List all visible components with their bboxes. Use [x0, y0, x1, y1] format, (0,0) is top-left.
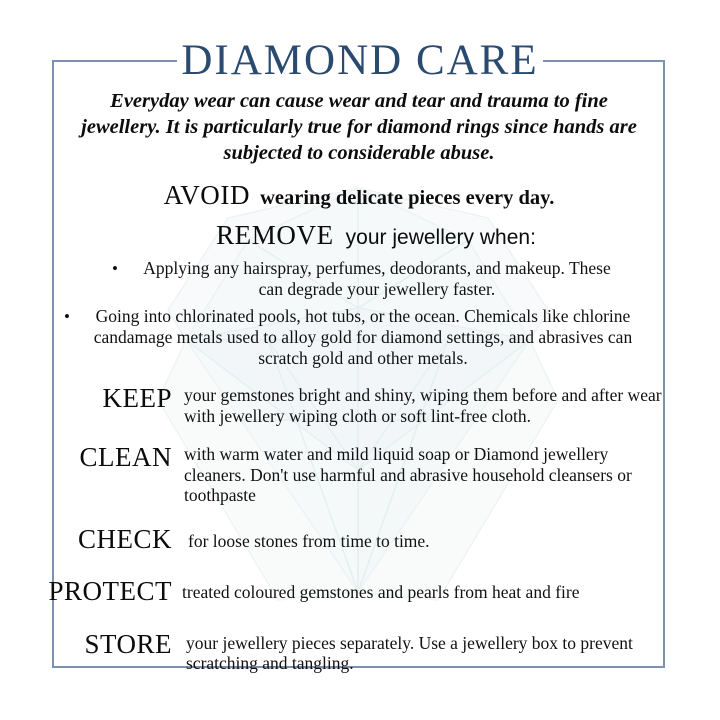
section-protect: PROTECT treated coloured gemstones and p…	[54, 578, 664, 604]
keyword-protect: PROTECT	[32, 578, 172, 604]
list-item: • Going into chlorinated pools, hot tubs…	[54, 300, 664, 369]
headline-avoid: AVOID wearing delicate pieces every day.	[54, 180, 664, 211]
page-title: DIAMOND CARE	[0, 38, 720, 84]
bullet-marker-icon: •	[64, 306, 70, 327]
list-item: • Applying any hairspray, perfumes, deod…	[54, 258, 664, 300]
keyword-keep: KEEP	[54, 385, 172, 411]
section-keep: KEEP your gemstones bright and shiny, wi…	[54, 385, 664, 426]
section-clean-text: with warm water and mild liquid soap or …	[184, 444, 664, 506]
section-clean: CLEAN with warm water and mild liquid so…	[54, 444, 664, 506]
headline-remove: REMOVE your jewellery when:	[54, 220, 664, 251]
diamond-care-poster: DIAMOND CARE Everyday wear can cause wea…	[0, 0, 720, 720]
intro-paragraph: Everyday wear can cause wear and tear an…	[54, 88, 664, 166]
keyword-avoid: AVOID	[164, 180, 251, 211]
list-item-text: Applying any hairspray, perfumes, deodor…	[134, 258, 620, 300]
headline-avoid-text: wearing delicate pieces every day.	[260, 187, 554, 210]
bullet-marker-icon: •	[112, 258, 118, 279]
section-check: CHECK for loose stones from time to time…	[54, 526, 664, 552]
keyword-store: STORE	[54, 631, 172, 657]
keyword-clean: CLEAN	[54, 444, 172, 470]
keyword-check: CHECK	[54, 526, 172, 552]
section-check-text: for loose stones from time to time.	[188, 531, 664, 552]
section-protect-text: treated coloured gemstones and pearls fr…	[182, 582, 664, 603]
section-store-text: your jewellery pieces separately. Use a …	[186, 633, 664, 674]
headline-remove-text: your jewellery when:	[346, 226, 536, 250]
content-body: Everyday wear can cause wear and tear an…	[54, 88, 664, 674]
section-store: STORE your jewellery pieces separately. …	[54, 631, 664, 674]
list-item-text: Going into chlorinated pools, hot tubs, …	[78, 306, 648, 369]
section-keep-text: your gemstones bright and shiny, wiping …	[184, 385, 664, 426]
keyword-remove: REMOVE	[216, 220, 334, 251]
bullet-list: • Applying any hairspray, perfumes, deod…	[54, 258, 664, 369]
